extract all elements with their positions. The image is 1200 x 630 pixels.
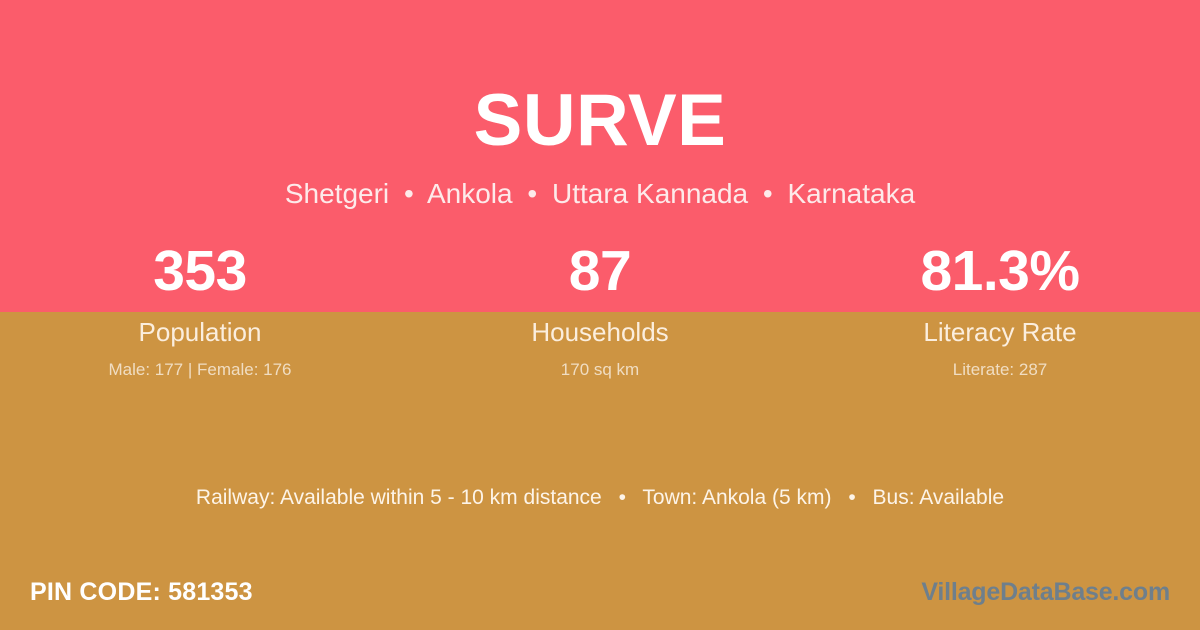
stat-households: 87 Households 170 sq km <box>400 243 800 379</box>
header: SURVE Shetgeri • Ankola • Uttara Kannada… <box>0 0 1200 210</box>
breadcrumb-separator: • <box>397 178 421 209</box>
breadcrumb-separator: • <box>756 178 780 209</box>
amenity-railway: Railway: Available within 5 - 10 km dist… <box>196 486 602 509</box>
breadcrumb-item-taluka: Ankola <box>427 178 513 209</box>
pin-code: PIN CODE: 581353 <box>0 579 253 607</box>
stat-value: 353 <box>0 243 400 300</box>
page-title: SURVE <box>0 0 1200 157</box>
breadcrumb-item-district: Uttara Kannada <box>552 178 748 209</box>
amenity-separator: • <box>837 486 866 509</box>
stat-label: Literacy Rate <box>800 300 1200 347</box>
amenity-bus: Bus: Available <box>873 486 1005 509</box>
breadcrumb: Shetgeri • Ankola • Uttara Kannada • Kar… <box>0 157 1200 210</box>
village-info-card: SURVE Shetgeri • Ankola • Uttara Kannada… <box>0 0 1200 630</box>
amenity-town: Town: Ankola (5 km) <box>642 486 831 509</box>
stat-label: Households <box>400 300 800 347</box>
stats-row: 353 Population Male: 177 | Female: 176 8… <box>0 243 1200 379</box>
stat-population: 353 Population Male: 177 | Female: 176 <box>0 243 400 379</box>
breadcrumb-item-village: Shetgeri <box>285 178 389 209</box>
stat-value: 87 <box>400 243 800 300</box>
stat-literacy-rate: 81.3% Literacy Rate Literate: 287 <box>800 243 1200 379</box>
stat-sublabel: 170 sq km <box>400 347 800 380</box>
amenity-separator: • <box>608 486 637 509</box>
amenities-row: Railway: Available within 5 - 10 km dist… <box>0 485 1200 510</box>
footer: PIN CODE: 581353 VillageDataBase.com <box>0 556 1200 630</box>
stat-value: 81.3% <box>800 243 1200 300</box>
breadcrumb-item-state: Karnataka <box>788 178 916 209</box>
breadcrumb-separator: • <box>520 178 544 209</box>
stat-sublabel: Male: 177 | Female: 176 <box>0 347 400 380</box>
stat-label: Population <box>0 300 400 347</box>
stat-sublabel: Literate: 287 <box>800 347 1200 380</box>
brand-watermark: VillageDataBase.com <box>921 579 1200 607</box>
